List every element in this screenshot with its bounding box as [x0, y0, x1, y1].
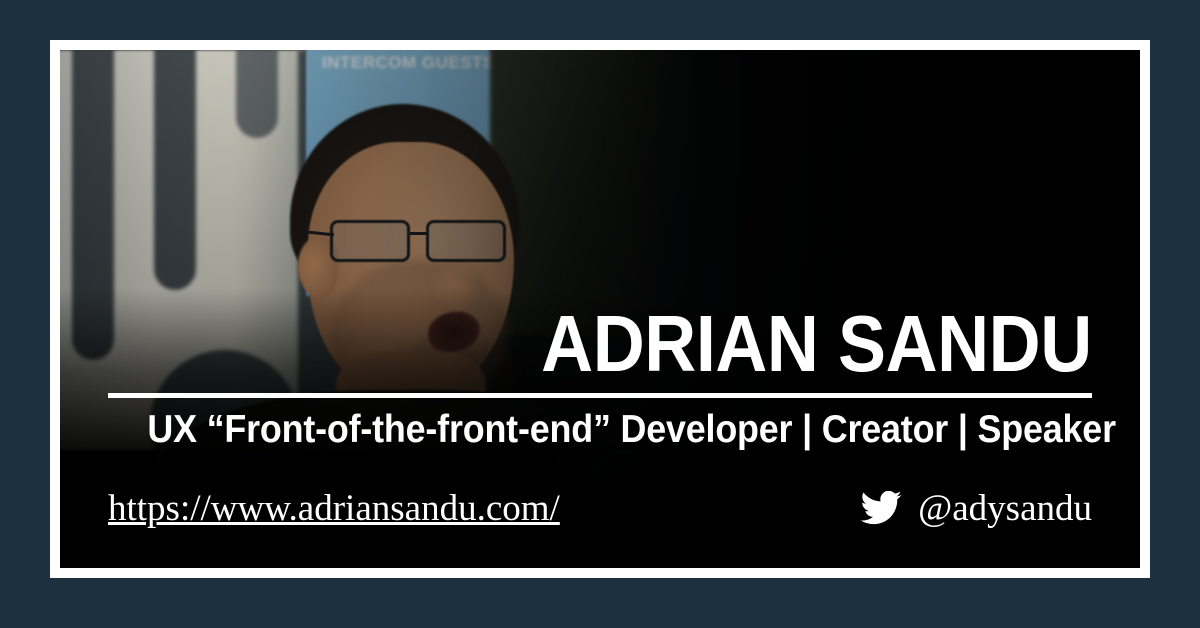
card-panel: INTERCOM GUESTS guests guests: [60, 50, 1140, 568]
speaker-title: UX “Front-of-the-front-end” Developer | …: [147, 408, 1052, 452]
divider-rule: [108, 393, 1092, 398]
speaker-card-stage: INTERCOM GUESTS guests guests: [0, 0, 1200, 628]
twitter-handle: @adysandu: [918, 490, 1092, 527]
twitter-block[interactable]: @adysandu: [860, 490, 1092, 527]
speaker-name: ADRIAN SANDU: [541, 304, 1092, 384]
contact-row: https://www.adriansandu.com/ @adysandu: [108, 480, 1092, 536]
text-overlay: ADRIAN SANDU UX “Front-of-the-front-end”…: [60, 50, 1140, 568]
twitter-bird-icon: [860, 491, 902, 525]
white-frame: INTERCOM GUESTS guests guests: [50, 40, 1150, 578]
website-link[interactable]: https://www.adriansandu.com/: [108, 490, 560, 527]
